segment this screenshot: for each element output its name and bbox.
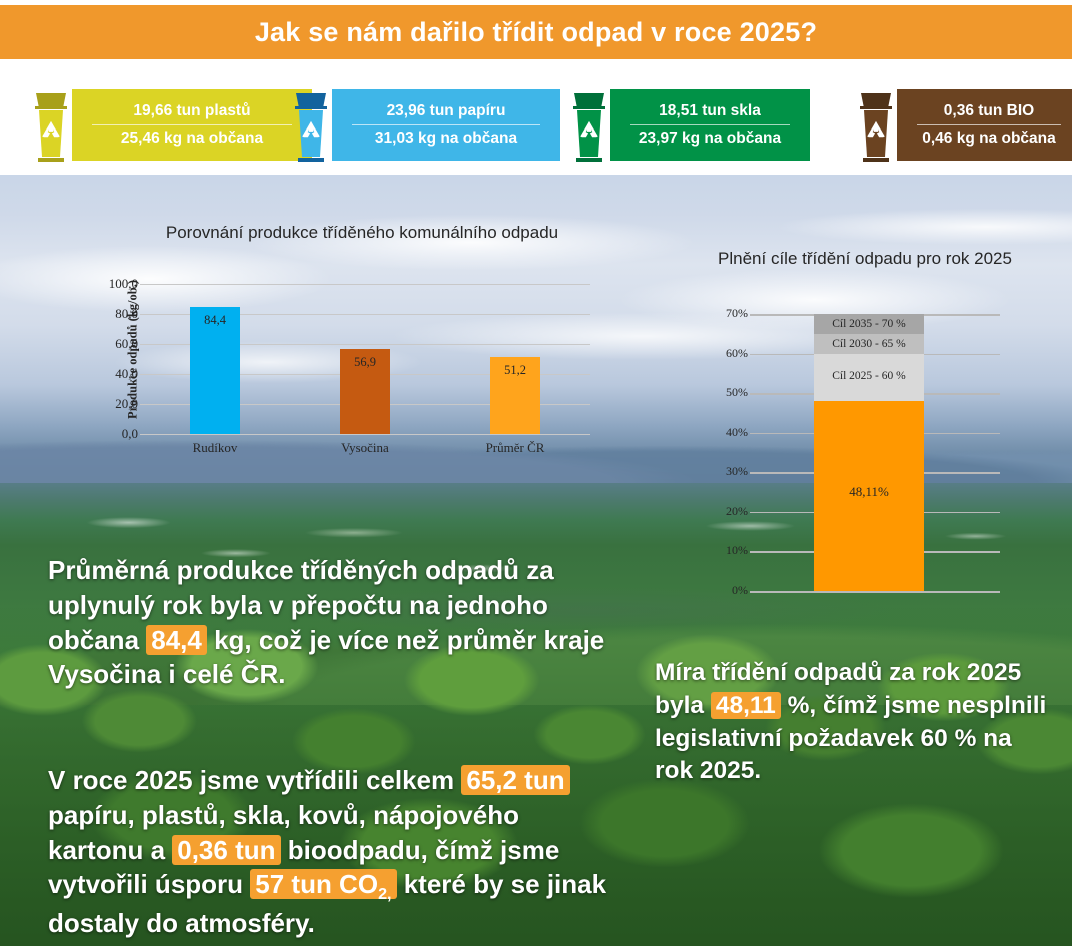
- chart2-y-tick: 40%: [708, 425, 748, 440]
- chart1-x-tick: Rudíkov: [140, 440, 290, 456]
- chart1-y-tick: 0,0: [78, 426, 138, 442]
- chart2-title: Plnění cíle třídění odpadu pro rok 2025: [700, 248, 1030, 271]
- chart1-y-tick: 40,0: [78, 366, 138, 382]
- chart1-plot-area: 0,020,040,060,080,0100,084,4Rudíkov56,9V…: [140, 284, 590, 434]
- page-title: Jak se nám dařilo třídit odpad v roce 20…: [255, 17, 817, 48]
- highlight-0-36-tun: 0,36 tun: [172, 835, 280, 865]
- highlight-84-4: 84,4: [146, 625, 207, 655]
- bin-stats-sklo: 18,51 tun skla23,97 kg na občana: [610, 89, 810, 161]
- highlight-co2-subscript: 2,: [378, 886, 391, 904]
- bin-card-sklo: 18,51 tun skla23,97 kg na občana: [568, 85, 810, 165]
- recycling-bin-icon: [290, 85, 332, 165]
- chart2-plot-area: 0%10%20%30%40%50%60%70%48,11%Cíl 2025 - …: [722, 314, 1012, 591]
- bin-divider: [917, 124, 1061, 125]
- bin-glyph: [855, 85, 897, 165]
- bin-stats-papir: 23,96 tun papíru31,03 kg na občana: [332, 89, 560, 161]
- page-header-banner: Jak se nám dařilo třídit odpad v roce 20…: [0, 5, 1072, 59]
- bin-tons-plast: 19,66 tun plastů: [88, 102, 296, 119]
- bin-stats-bio: 0,36 tun BIO0,46 kg na občana: [897, 89, 1072, 161]
- bin-divider: [630, 124, 790, 125]
- bin-glyph: [568, 85, 610, 165]
- chart1-bar-rudíkov: 84,4: [190, 307, 240, 434]
- chart2-y-tick: 10%: [708, 543, 748, 558]
- chart-target-fulfilment: Plnění cíle třídění odpadu pro rok 2025 …: [700, 248, 1060, 608]
- chart1-x-tick: Vysočina: [290, 440, 440, 456]
- chart1-bar-vysočina: 56,9: [340, 349, 390, 434]
- bin-card-plast: 19,66 tun plastů25,46 kg na občana: [30, 85, 312, 165]
- chart2-gridline: [750, 591, 1000, 593]
- chart1-gridline: [140, 284, 590, 285]
- copy-text: V roce 2025 jsme vytřídili celkem: [48, 765, 461, 795]
- chart2-segment-1: Cíl 2025 - 60 %: [814, 354, 924, 401]
- chart2-y-tick: 50%: [708, 385, 748, 400]
- highlight-57-tun-co2: 57 tun CO2,: [250, 869, 396, 899]
- bin-card-bio: 0,36 tun BIO0,46 kg na občana: [855, 85, 1072, 165]
- highlight-co2-main: 57 tun CO: [255, 869, 378, 899]
- bin-per-capita-papir: 31,03 kg na občana: [348, 130, 544, 147]
- paragraph-sorting-rate: Míra třídění odpadů za rok 2025 byla 48,…: [655, 657, 1055, 788]
- chart2-y-tick: 30%: [708, 464, 748, 479]
- chart2-segment-label: Cíl 2030 - 65 %: [832, 338, 905, 350]
- recycling-bin-icon: [855, 85, 897, 165]
- bin-card-papir: 23,96 tun papíru31,03 kg na občana: [290, 85, 560, 165]
- paragraph-average-production: Průměrná produkce tříděných odpadů za up…: [48, 553, 608, 692]
- bin-per-capita-bio: 0,46 kg na občana: [913, 130, 1065, 147]
- chart2-segment-3: Cíl 2035 - 70 %: [814, 314, 924, 334]
- chart1-title: Porovnání produkce tříděného komunálního…: [132, 222, 592, 244]
- chart2-segment-label: Cíl 2035 - 70 %: [832, 318, 905, 330]
- chart1-bar-value: 51,2: [490, 363, 540, 378]
- bin-per-capita-sklo: 23,97 kg na občana: [626, 130, 794, 147]
- chart1-gridline: [140, 434, 590, 435]
- chart1-y-tick: 80,0: [78, 306, 138, 322]
- bin-divider: [92, 124, 292, 125]
- bin-tons-bio: 0,36 tun BIO: [913, 102, 1065, 119]
- chart2-y-tick: 0%: [708, 583, 748, 598]
- chart-production-comparison: Porovnání produkce tříděného komunálního…: [62, 222, 592, 472]
- bin-glyph: [290, 85, 332, 165]
- chart2-segment-2: Cíl 2030 - 65 %: [814, 334, 924, 354]
- bin-stats-plast: 19,66 tun plastů25,46 kg na občana: [72, 89, 312, 161]
- chart1-bar-value: 84,4: [190, 313, 240, 328]
- chart2-segment-label: Cíl 2025 - 60 %: [832, 370, 905, 382]
- bin-tons-papir: 23,96 tun papíru: [348, 102, 544, 119]
- recycling-bin-icon: [30, 85, 72, 165]
- chart1-x-tick: Průměr ČR: [440, 440, 590, 456]
- chart2-value-label: 48,11%: [814, 484, 924, 500]
- chart2-y-tick: 20%: [708, 504, 748, 519]
- chart1-bar-průměr-čr: 51,2: [490, 357, 540, 434]
- chart1-y-tick: 100,0: [78, 276, 138, 292]
- highlight-48-11: 48,11: [711, 692, 781, 719]
- bin-glyph: [30, 85, 72, 165]
- bin-per-capita-plast: 25,46 kg na občana: [88, 130, 296, 147]
- chart2-y-tick: 70%: [708, 306, 748, 321]
- recycling-bin-icon: [568, 85, 610, 165]
- paragraph-total-sorted: V roce 2025 jsme vytřídili celkem 65,2 t…: [48, 763, 608, 941]
- highlight-65-2-tun: 65,2 tun: [461, 765, 569, 795]
- bin-tons-sklo: 18,51 tun skla: [626, 102, 794, 119]
- chart1-y-tick: 20,0: [78, 396, 138, 412]
- chart2-y-tick: 60%: [708, 346, 748, 361]
- chart1-bar-value: 56,9: [340, 355, 390, 370]
- bin-divider: [352, 124, 540, 125]
- chart1-y-tick: 60,0: [78, 336, 138, 352]
